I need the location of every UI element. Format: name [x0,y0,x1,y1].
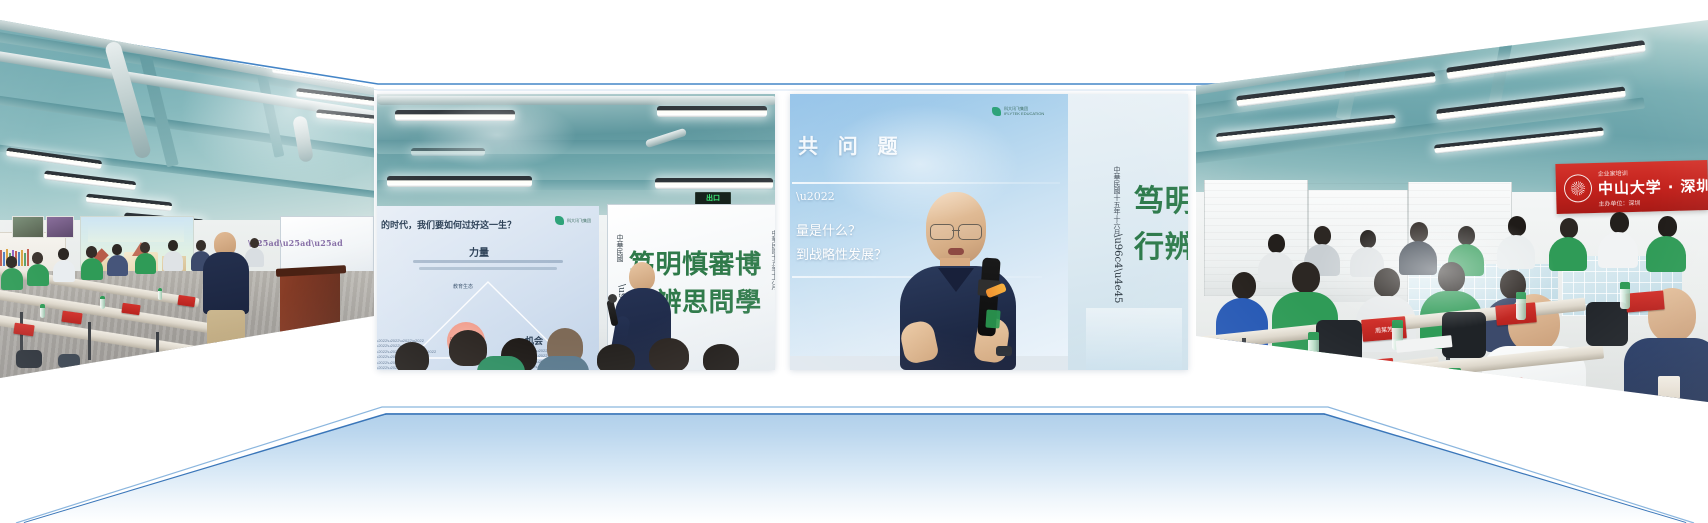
nameplate [177,295,195,307]
lecturer-head [629,262,655,291]
gallery-slide-center-left[interactable]: 出口 的时代，我们要如何过好这一生？ 科大讯飞集团 力量 [377,94,775,370]
nameplate [1625,290,1665,312]
nameplate: 陈某华 [1343,358,1395,388]
nameplate [1469,378,1525,402]
gallery-slide-left[interactable]: \u25ad\u25ad\u25ad [0,20,374,378]
slide-brand-icon [555,216,564,225]
slide-brand-icon [992,107,1001,116]
photo-classroom-wide-view: \u25ad\u25ad\u25ad [0,20,374,378]
photo-speaker-portrait: 科大讯飞集团 IFLYTEK EDUCATION 共 问 题 \u2022 量是… [790,94,1188,370]
gallery-slide-right[interactable]: 企业家培训 中山大学 · 深圳 主办单位：深圳 [1196,20,1708,402]
gallery-stage: \u25ad\u25ad\u25ad [0,0,1708,523]
university-banner: 企业家培训 中山大学 · 深圳 主办单位：深圳 [1555,160,1708,214]
nameplate: 周小兵 [1223,368,1275,398]
glasses-icon [930,224,982,238]
photo-audience-seated: 企业家培训 中山大学 · 深圳 主办单位：深圳 [1196,20,1708,402]
presenter-torso [203,252,249,314]
university-seal-icon [1564,174,1593,203]
podium [280,272,340,368]
perspective-floor [0,395,1708,523]
gallery-slide-center-right[interactable]: 科大讯飞集团 IFLYTEK EDUCATION 共 问 题 \u2022 量是… [790,94,1188,370]
photo-lecture-with-slide: 出口 的时代，我们要如何过好这一生？ 科大讯飞集团 力量 [377,94,775,370]
